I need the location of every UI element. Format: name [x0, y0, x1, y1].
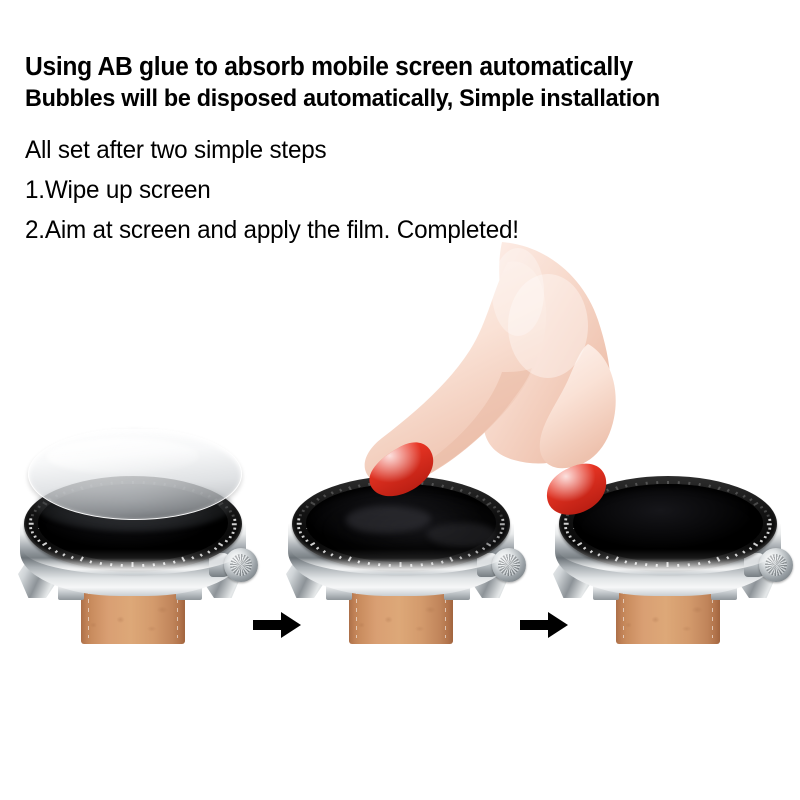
bezel-tick	[769, 519, 772, 521]
bezel-tick	[590, 495, 593, 498]
bezel-tick	[389, 564, 391, 567]
bezel-tick	[38, 540, 41, 543]
bezel-tick	[311, 542, 316, 546]
bezel-tick	[767, 514, 770, 516]
bezel-tick	[331, 553, 334, 556]
bezel-tick	[218, 542, 223, 546]
bezel-tick	[400, 562, 402, 567]
bezel-tick	[111, 563, 113, 566]
watch-dial-screen	[306, 484, 496, 562]
bezel-tick	[182, 557, 186, 562]
bezel-tick	[306, 506, 309, 509]
bezel-tick	[63, 553, 66, 556]
bezel-tick	[316, 498, 319, 501]
bezel-tick	[34, 536, 37, 538]
bezel-tick	[80, 557, 84, 562]
bezel-tick	[743, 495, 746, 498]
bezel-tick	[164, 562, 166, 565]
bezel-tick	[358, 560, 361, 563]
bezel-tick	[302, 536, 305, 538]
headline-line-2: Bubbles will be disposed automatically, …	[25, 83, 758, 114]
bezel-tick	[299, 514, 302, 516]
bezel-tick	[153, 563, 155, 566]
bezel-tick	[30, 527, 33, 529]
bezel-tick	[298, 519, 301, 521]
bezel-tick	[727, 556, 730, 559]
demo-step-1-watch: 101418	[2, 420, 262, 700]
bezel-tick	[468, 553, 471, 556]
bezel-tick	[667, 562, 669, 567]
bezel-tick	[200, 553, 203, 556]
bezel-tick	[234, 527, 237, 529]
watch-face: 101418	[292, 476, 510, 572]
bezel-tick	[31, 514, 34, 516]
bezel-tick	[573, 506, 576, 509]
bezel-tick	[192, 556, 195, 559]
bezel-tick	[482, 547, 485, 550]
bezel-tick	[132, 562, 134, 567]
bezel-tick	[565, 527, 568, 529]
headline-line-1: Using AB glue to absorb mobile screen au…	[25, 52, 758, 83]
bezel-tick	[708, 560, 711, 563]
bezel-tick	[29, 523, 34, 525]
bezel-tick	[229, 536, 232, 538]
bezel-tick	[764, 536, 767, 538]
bezel-tick	[214, 547, 217, 550]
bezel-tick	[71, 556, 74, 559]
bezel-tick	[234, 519, 237, 521]
bezel-tick	[421, 563, 423, 566]
bezel-tick	[500, 523, 505, 525]
bezel-tick	[379, 563, 381, 566]
bezel-tick	[625, 560, 628, 563]
bezel-tick	[760, 506, 763, 509]
bezel-tick	[497, 536, 500, 538]
bezel-tick	[573, 540, 576, 543]
bezel-tick	[331, 491, 334, 494]
bezel-tick	[749, 498, 752, 501]
bezel-tick	[339, 556, 342, 559]
bezel-tick	[476, 495, 479, 498]
bezel-tick	[735, 553, 738, 556]
bezel-tick	[316, 547, 319, 550]
bezel-tick	[43, 542, 48, 546]
bezel-tick	[432, 562, 434, 565]
bezel-tick	[450, 557, 454, 562]
bezel-tick	[232, 514, 235, 516]
bezel-tick	[753, 542, 758, 546]
bezel-tick	[482, 498, 485, 501]
instruction-intro: All set after two simple steps	[25, 130, 762, 170]
bezel-tick	[497, 510, 500, 512]
bezel-tick	[735, 491, 738, 494]
bezel-tick	[468, 491, 471, 494]
bezel-tick	[323, 550, 326, 553]
bezel-tick	[500, 532, 503, 534]
bezel-tick	[699, 562, 701, 565]
bezel-tick	[302, 510, 305, 512]
bezel-tick	[298, 527, 301, 529]
bezel-tick	[493, 540, 496, 543]
instruction-step-1: 1.Wipe up screen	[25, 170, 762, 210]
bezel-tick	[635, 562, 637, 565]
bezel-tick	[769, 527, 772, 529]
bezel-tick	[569, 510, 572, 512]
bezel-tick	[502, 519, 505, 521]
screen-protector-film	[28, 428, 242, 520]
bezel-tick	[173, 560, 176, 563]
bezel-tick	[656, 564, 658, 567]
bezel-tick	[208, 550, 211, 553]
bezel-tick	[441, 560, 444, 563]
bezel-tick	[583, 547, 586, 550]
bezel-tick	[143, 564, 145, 567]
bezel-tick	[493, 506, 496, 509]
bezel-tick	[306, 540, 309, 543]
bezel-tick	[232, 523, 237, 525]
bezel-tick	[598, 553, 601, 556]
bezel-tick	[476, 550, 479, 553]
bezel-tick	[564, 523, 569, 525]
bezel-tick	[598, 491, 601, 494]
bezel-tick	[31, 532, 34, 534]
bezel-tick	[578, 542, 583, 546]
bezel-tick	[225, 540, 228, 543]
instruction-step-2: 2.Aim at screen and apply the film. Comp…	[25, 210, 762, 250]
bezel-tick	[646, 563, 648, 566]
bezel-tick	[299, 532, 302, 534]
bezel-tick	[749, 547, 752, 550]
bezel-tick	[30, 519, 33, 521]
bezel-tick	[323, 495, 326, 498]
bezel-tick	[583, 498, 586, 501]
bezel-tick	[566, 532, 569, 534]
bezel-tick	[569, 536, 572, 538]
demo-step-3-watch: 101418	[537, 420, 797, 700]
bezel-tick	[717, 557, 721, 562]
instruction-list: All set after two simple steps 1.Wipe up…	[25, 130, 785, 250]
bezel-tick	[55, 550, 58, 553]
bezel-tick	[486, 502, 491, 506]
bezel-tick	[460, 556, 463, 559]
product-demo-illustration: 101418	[0, 420, 800, 720]
bezel-tick	[348, 557, 352, 562]
watch-face: 101418	[559, 476, 777, 572]
bezel-tick	[767, 532, 770, 534]
bezel-tick	[90, 560, 93, 563]
bezel-tick	[297, 523, 302, 525]
bezel-tick	[411, 564, 413, 567]
demo-step-2-watch: 101418	[270, 420, 530, 700]
bezel-tick	[688, 563, 690, 566]
bezel-tick	[486, 542, 491, 546]
bezel-tick	[743, 550, 746, 553]
bezel-tick	[565, 519, 568, 521]
bezel-tick	[232, 532, 235, 534]
bezel-tick	[502, 527, 505, 529]
bezel-tick	[590, 550, 593, 553]
bezel-tick	[500, 514, 503, 516]
infographic-page: Using AB glue to absorb mobile screen au…	[0, 0, 800, 800]
watch-dial-screen	[573, 484, 763, 562]
bezel-tick	[48, 547, 51, 550]
bezel-tick	[566, 514, 569, 516]
bezel-tick	[615, 557, 619, 562]
bezel-tick	[678, 564, 680, 567]
bezel-tick	[368, 562, 370, 565]
bezel-tick	[727, 489, 730, 492]
bezel-tick	[606, 556, 609, 559]
bezel-tick	[767, 523, 772, 525]
bezel-tick	[100, 562, 102, 565]
bezel-tick	[760, 540, 763, 543]
bezel-tick	[460, 489, 463, 492]
bezel-tick	[753, 502, 758, 506]
bezel-tick	[764, 510, 767, 512]
text-block: Using AB glue to absorb mobile screen au…	[25, 52, 785, 250]
bezel-tick	[121, 564, 123, 567]
